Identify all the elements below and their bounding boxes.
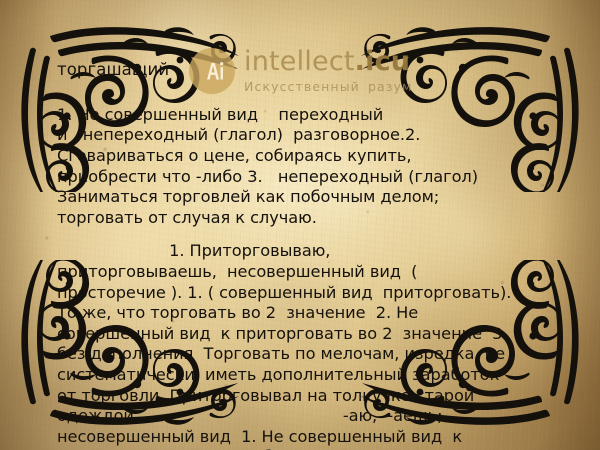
dictionary-entry: торгашащий 1. Не совершенный вид переход… [57,60,549,450]
definition-paragraph-2: 1. Приторговываю, приторговываешь, несов… [57,241,549,450]
parchment-slide: intellect.icu Искусственный разум торгаш… [0,0,600,450]
page-title: торгашащий [57,60,549,80]
definition-paragraph-1: 1. Не совершенный вид переходный и непер… [57,105,549,229]
